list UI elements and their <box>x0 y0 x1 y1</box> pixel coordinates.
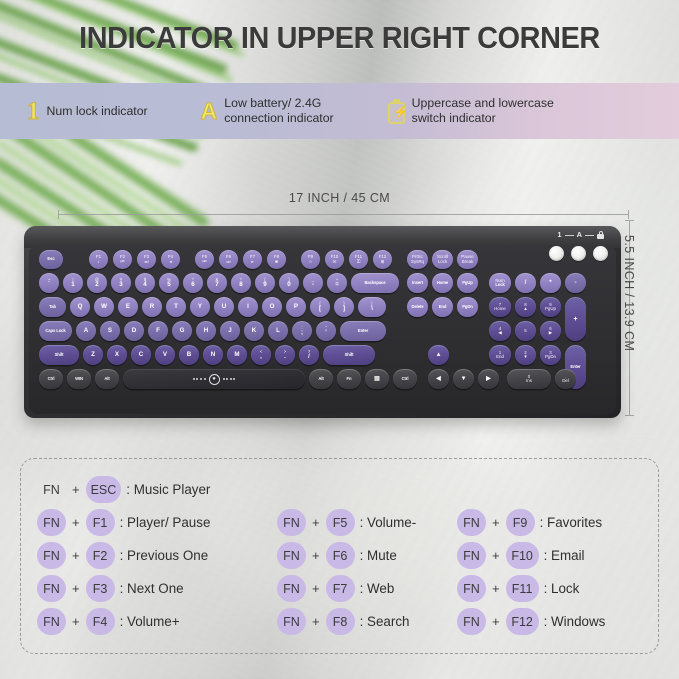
key-end[interactable]: End <box>432 297 453 317</box>
key-legend-main: ▲ <box>523 307 527 311</box>
key-legend-main: 7 <box>215 282 218 288</box>
key-a[interactable]: A <box>76 321 96 341</box>
key-shift[interactable]: Shift <box>323 345 375 365</box>
key-9[interactable]: (9 <box>255 273 275 293</box>
key-x[interactable]: X <box>107 345 127 365</box>
key-end[interactable]: 1End <box>489 345 511 365</box>
key-legend-main: O <box>270 304 275 310</box>
key-legend-main: ◀ <box>436 376 441 382</box>
key-legend-top: Num <box>495 279 504 283</box>
key-legend-main: PgDn <box>545 355 556 359</box>
key-[interactable]: / <box>515 273 536 293</box>
fn-shortcut-row: FN+F5: Volume- <box>277 506 416 539</box>
key-[interactable]: F2⏮ <box>113 250 132 269</box>
key-legend-main: ⏮ <box>121 260 125 264</box>
key-7[interactable]: &7 <box>207 273 227 293</box>
key-[interactable]: ▼ <box>453 369 474 389</box>
key-[interactable]: += <box>327 273 347 293</box>
key-legend-main: N <box>211 352 215 358</box>
key-4[interactable]: $4 <box>135 273 155 293</box>
key-y[interactable]: Y <box>190 297 210 317</box>
key-k[interactable]: K <box>244 321 264 341</box>
fn-shortcut-row: FN+F3: Next One <box>37 572 210 605</box>
keyboard-key-deck: EscF1♪F2⏮F3⏭F4◂F5⏮F6⏭F7▸F8■F9☆F10✉F11⚿F1… <box>29 246 616 414</box>
led-divider <box>585 235 594 236</box>
key-legend-main: B <box>187 352 191 358</box>
key-6[interactable]: ^6 <box>183 273 203 293</box>
key-legend-main: H <box>204 328 208 334</box>
fn-key-pill: FN <box>277 608 306 635</box>
plus-symbol: + <box>311 515 321 530</box>
key-break[interactable]: PauseBreak <box>457 250 478 269</box>
key-legend-main: ◂ <box>169 260 171 264</box>
key-e[interactable]: E <box>118 297 138 317</box>
key-[interactable]: F5⏮ <box>195 250 214 269</box>
key-ins[interactable]: 0Ins <box>507 369 551 389</box>
key-legend-main: R <box>150 304 154 310</box>
key-legend-main: 9 <box>263 282 266 288</box>
led-light <box>593 246 608 261</box>
led-caps-lock-label: A <box>577 231 582 239</box>
key-legend-main: / <box>525 280 527 286</box>
key-legend-main: Enter <box>570 365 580 369</box>
width-dimension-line <box>58 214 629 215</box>
fn-shortcut-row: FN+F4: Volume+ <box>37 605 210 638</box>
key-legend-main: PgUp <box>462 281 473 285</box>
key-[interactable]: F3⏭ <box>137 250 156 269</box>
key-legend-main: ♪ <box>97 260 99 264</box>
plus-symbol: + <box>491 614 501 629</box>
plus-symbol: + <box>311 614 321 629</box>
key-insert[interactable]: Insert <box>407 273 428 293</box>
letter-a-icon: A <box>201 100 218 123</box>
key-i[interactable]: I <box>238 297 258 317</box>
fn-key-pill: FN <box>37 608 66 635</box>
key-legend-main: * <box>549 280 551 286</box>
key-legend-main: T <box>174 304 178 310</box>
key-[interactable]: ▶ <box>478 369 499 389</box>
legend-label: Num lock indicator <box>47 104 148 119</box>
key-legend-main: ☆ <box>309 260 313 264</box>
key-[interactable]: ▤ <box>365 369 389 389</box>
battery-bolt-icon: ⚡ <box>388 99 405 124</box>
key-j[interactable]: J <box>220 321 240 341</box>
key-legend-main: Home <box>494 307 506 311</box>
key-legend-main: ' <box>325 330 326 336</box>
key-legend-top: ? <box>308 350 310 354</box>
key-legend-main: , <box>260 354 262 360</box>
fn-combo-key-pill: F4 <box>86 608 115 635</box>
key-legend-main: K <box>252 328 256 334</box>
key-l[interactable]: L <box>268 321 288 341</box>
key-legend-main: P <box>294 304 298 310</box>
key-legend-main: Lock <box>495 283 504 287</box>
key-legend-top: _ <box>312 278 314 282</box>
fn-combo-key-pill: F3 <box>86 575 115 602</box>
key-legend-main: C <box>139 352 143 358</box>
key-legend-main: / <box>308 354 310 360</box>
padlock-icon <box>597 231 604 239</box>
padlock-body <box>597 234 604 239</box>
lightning-bolt-glyph: ⚡ <box>393 106 408 118</box>
key-w[interactable]: W <box>94 297 114 317</box>
key-shift[interactable]: Shift <box>39 345 79 365</box>
key-legend-top: < <box>260 350 263 354</box>
key-win[interactable]: WIN <box>67 369 91 389</box>
fn-shortcut-row: FN+F7: Web <box>277 572 416 605</box>
key-legend-top: 5 <box>524 329 526 333</box>
key-legend-main: ` <box>48 282 50 288</box>
key-legend-main: ; <box>301 330 303 336</box>
key-legend-main: ⚿ <box>357 260 360 264</box>
key-[interactable]: _- <box>303 273 323 293</box>
fn-shortcut-description: : Player/ Pause <box>120 515 211 530</box>
fn-shortcut-row: FN+F2: Previous One <box>37 539 210 572</box>
key-[interactable]: F10✉ <box>325 250 344 269</box>
key-[interactable]: - <box>565 273 586 293</box>
key-p[interactable]: P <box>286 297 306 317</box>
key-legend-top: ) <box>288 278 289 282</box>
key-legend-main: + <box>573 316 577 323</box>
key-[interactable]: ▲ <box>428 345 449 365</box>
key-legend-main: J <box>228 328 231 334</box>
key-b[interactable]: B <box>179 345 199 365</box>
fn-shortcut-row: FN+F8: Search <box>277 605 416 638</box>
spacebar-dots-left <box>193 378 206 380</box>
key-esc[interactable]: Esc <box>39 250 63 269</box>
fn-shortcut-description: : Volume- <box>360 515 417 530</box>
keyboard-top-bezel: 1 A <box>24 226 621 248</box>
key-legend-main: 0 <box>287 282 290 288</box>
key-legend-main: ▶ <box>486 376 491 382</box>
key-legend-main: ⏭ <box>145 260 149 264</box>
legend-item-low-battery: A Low battery/ 2.4G connection indicator <box>201 96 334 126</box>
key-legend-main: E <box>126 304 130 310</box>
key-enter[interactable]: Enter <box>340 321 386 341</box>
key-[interactable]: F7▸ <box>243 250 262 269</box>
key-z[interactable]: Z <box>83 345 103 365</box>
key-5[interactable]: 5 <box>515 321 536 341</box>
key-alt[interactable]: Alt <box>309 369 333 389</box>
fn-shortcut-description: : Search <box>360 614 410 629</box>
fn-key-pill: FN <box>37 575 66 602</box>
key-r[interactable]: R <box>142 297 162 317</box>
key-legend-main: Del <box>562 379 569 383</box>
key-legend-main: SysRq <box>411 260 424 264</box>
key-legend-top: > <box>284 350 287 354</box>
key-[interactable]: <, <box>251 345 271 365</box>
key-pgdn[interactable]: 3PgDn <box>540 345 561 365</box>
fn-shortcut-description: : Email <box>544 548 585 563</box>
key-legend-top: { <box>319 302 320 306</box>
key-q[interactable]: Q <box>70 297 90 317</box>
key-sysrq[interactable]: PrtScSysRq <box>407 250 428 269</box>
key-legend-main: ✉ <box>333 260 337 264</box>
key-alt[interactable]: Alt <box>95 369 119 389</box>
plus-symbol: + <box>71 614 81 629</box>
key-legend-main: ▶ <box>549 331 552 335</box>
key-pgdn[interactable]: PgDn <box>457 297 478 317</box>
key-legend-main: Shift <box>345 353 354 357</box>
key-legend-main: 4 <box>143 282 146 288</box>
fn-shortcut-row: FN+F11: Lock <box>457 572 605 605</box>
key-5[interactable]: %5 <box>159 273 179 293</box>
key-legend-main: ■ <box>275 260 278 264</box>
spacebar-key[interactable]: ● <box>123 369 305 389</box>
fn-shortcut-row: FN+F9: Favorites <box>457 506 605 539</box>
fn-shortcut-column-3: FN+F9: FavoritesFN+F10: EmailFN+F11: Loc… <box>457 506 605 638</box>
plus-symbol: + <box>491 548 501 563</box>
key-c[interactable]: C <box>131 345 151 365</box>
key-[interactable]: ?/ <box>299 345 319 365</box>
key-legend-main: PgUp <box>545 307 556 311</box>
key-legend-main: = <box>335 282 339 288</box>
key-del[interactable]: .Del <box>555 369 576 389</box>
key-legend-main: Caps Lock <box>45 329 65 333</box>
key-d[interactable]: D <box>124 321 144 341</box>
plus-symbol: + <box>71 515 81 530</box>
legend-label: Uppercase and lowercase switch indicator <box>412 96 554 126</box>
fn-key-pill: FN <box>457 608 486 635</box>
fn-key-pill: FN <box>277 542 306 569</box>
key-fn[interactable]: Fn <box>337 369 361 389</box>
num-lock-digit-one-icon: 1 <box>27 99 40 124</box>
key-legend-main: 3 <box>119 282 122 288</box>
key-legend-main: 2 <box>95 282 98 288</box>
legend-item-num-lock: 1 Num lock indicator <box>27 99 148 124</box>
key-legend-top: } <box>343 302 344 306</box>
key-[interactable]: F12⊞ <box>373 250 392 269</box>
key-legend-main: Enter <box>358 329 368 333</box>
key-[interactable]: F4◂ <box>161 250 180 269</box>
key-legend-main: Y <box>198 304 202 310</box>
led-divider <box>565 235 574 236</box>
key-t[interactable]: T <box>166 297 186 317</box>
key-legend-main: 5 <box>167 282 170 288</box>
key-legend-main: Home <box>437 281 448 285</box>
fn-combo-key-pill: F6 <box>326 542 355 569</box>
key-lock[interactable]: NumLock <box>489 273 511 293</box>
key-[interactable]: F6⏭ <box>219 250 238 269</box>
key-[interactable]: + <box>565 297 586 341</box>
key-legend-main: Fn <box>347 377 352 381</box>
key-legend-main: 6 <box>191 282 194 288</box>
key-m[interactable]: M <box>227 345 247 365</box>
key-8[interactable]: *8 <box>231 273 251 293</box>
fn-key-pill: FN <box>37 476 66 503</box>
led-light <box>571 246 586 261</box>
key-legend-top: @ <box>95 278 99 282</box>
key-g[interactable]: G <box>172 321 192 341</box>
fn-combo-key-pill: F11 <box>506 575 539 602</box>
fn-combo-key-pill: F1 <box>86 509 115 536</box>
key-legend-main: . <box>284 354 286 360</box>
fn-key-pill: FN <box>457 542 486 569</box>
key-[interactable]: 6▶ <box>540 321 561 341</box>
height-dimension-label: 5.5 INCH / 13.9 CM <box>622 235 636 405</box>
key-[interactable]: * <box>540 273 561 293</box>
fn-combo-key-pill: ESC <box>86 476 122 503</box>
key-legend-main: ▼ <box>523 355 527 359</box>
key-legend-top: " <box>325 326 327 330</box>
key-[interactable]: 4◀ <box>489 321 511 341</box>
key-delete[interactable]: Delete <box>407 297 428 317</box>
key-legend-main: Q <box>78 304 83 310</box>
key-s[interactable]: S <box>100 321 120 341</box>
key-legend-main: Ctrl <box>48 377 55 381</box>
fn-combo-key-pill: F12 <box>506 608 539 635</box>
fn-key-pill: FN <box>457 575 486 602</box>
indicator-legend-bar: 1 Num lock indicator A Low battery/ 2.4G… <box>0 83 679 139</box>
key-f[interactable]: F <box>148 321 168 341</box>
key-v[interactable]: V <box>155 345 175 365</box>
fn-combo-key-pill: F10 <box>506 542 539 569</box>
led-indicator-labels: 1 A <box>557 231 604 239</box>
fn-key-pill: FN <box>37 509 66 536</box>
fn-shortcuts-panel: FN+ESC: Music PlayerFN+F1: Player/ Pause… <box>20 458 659 654</box>
fn-shortcut-description: : Favorites <box>540 515 603 530</box>
key-h[interactable]: H <box>196 321 216 341</box>
key-[interactable]: :; <box>292 321 312 341</box>
fn-shortcut-description: : Web <box>360 581 395 596</box>
key-legend-main: 1 <box>71 282 74 288</box>
width-dimension-label: 17 INCH / 45 CM <box>0 191 679 205</box>
key-legend-main: I <box>247 304 249 310</box>
fn-shortcut-description: : Next One <box>120 581 184 596</box>
key-ctrl[interactable]: Ctrl <box>39 369 63 389</box>
key-legend-main: ▤ <box>374 376 380 382</box>
key-caps-lock[interactable]: Caps Lock <box>39 321 72 341</box>
key-legend-main: ⊞ <box>381 260 385 264</box>
key-backspace[interactable]: Backspace <box>351 273 399 293</box>
key-[interactable]: ~` <box>39 273 59 293</box>
led-indicator-lights <box>549 246 608 261</box>
key-legend-main: [ <box>319 306 321 312</box>
fn-combo-key-pill: F9 <box>506 509 535 536</box>
key-legend-top: ( <box>264 278 265 282</box>
key-[interactable]: F8■ <box>267 250 286 269</box>
key-pgup[interactable]: PgUp <box>457 273 478 293</box>
key-3[interactable]: #3 <box>111 273 131 293</box>
key-legend-main: Ctrl <box>402 377 409 381</box>
fn-combo-key-pill: F5 <box>326 509 355 536</box>
infographic-stage: INDICATOR IN UPPER RIGHT CORNER 1 Num lo… <box>0 0 679 679</box>
key-legend-main: Z <box>91 352 95 358</box>
key-lock[interactable]: ScrollLock <box>432 250 453 269</box>
key-legend-main: \ <box>371 306 373 312</box>
plus-symbol: + <box>71 581 81 596</box>
key-legend-main: Lock <box>438 260 447 264</box>
fn-shortcut-description: : Music Player <box>126 482 210 497</box>
led-num-lock-label: 1 <box>557 231 561 239</box>
key-legend-main: 8 <box>239 282 242 288</box>
key-[interactable]: |\ <box>358 297 386 317</box>
key-legend-top: & <box>216 278 219 282</box>
key-home[interactable]: Home <box>432 273 453 293</box>
brand-logo-icon: ● <box>209 374 220 385</box>
key-[interactable]: F11⚿ <box>349 250 368 269</box>
key-legend-main: ] <box>343 306 345 312</box>
legend-label: Low battery/ 2.4G connection indicator <box>224 96 333 126</box>
key-legend-main: - <box>312 282 314 288</box>
key-legend-main: W <box>101 304 107 310</box>
key-u[interactable]: U <box>214 297 234 317</box>
key-legend-top: + <box>336 278 339 282</box>
plus-symbol: + <box>71 482 81 497</box>
key-legend-main: Delete <box>412 305 424 309</box>
key-[interactable]: {[ <box>310 297 330 317</box>
key-[interactable]: }] <box>334 297 354 317</box>
key-legend-top: | <box>371 302 372 306</box>
fn-shortcut-description: : Volume+ <box>120 614 180 629</box>
key-legend-main: Alt <box>318 377 323 381</box>
key-legend-main: Break <box>462 260 473 264</box>
key-[interactable]: "' <box>316 321 336 341</box>
key-legend-main: V <box>163 352 167 358</box>
key-n[interactable]: N <box>203 345 223 365</box>
key-legend-main: - <box>574 280 576 286</box>
key-2[interactable]: @2 <box>87 273 107 293</box>
key-[interactable]: F1♪ <box>89 250 108 269</box>
key-0[interactable]: )0 <box>279 273 299 293</box>
key-legend-main: Ins <box>526 379 532 383</box>
fn-shortcut-description: : Lock <box>544 581 580 596</box>
key-legend-main: ▼ <box>460 376 466 382</box>
key-ctrl[interactable]: Ctrl <box>393 369 417 389</box>
key-legend-main: ▲ <box>435 352 441 358</box>
spacebar-dots-right <box>223 378 236 380</box>
fn-shortcut-row: FN+F12: Windows <box>457 605 605 638</box>
fn-shortcut-row: FN+F1: Player/ Pause <box>37 506 210 539</box>
key-pgup[interactable]: 9PgUp <box>540 297 561 317</box>
fn-shortcut-column-2: FN+F5: Volume-FN+F6: MuteFN+F7: WebFN+F8… <box>277 506 416 638</box>
key-home[interactable]: 7Home <box>489 297 511 317</box>
key-legend-main: ▸ <box>251 260 253 264</box>
key-[interactable]: 8▲ <box>515 297 536 317</box>
key-legend-top: # <box>120 278 122 282</box>
key-legend-main: X <box>115 352 119 358</box>
key-legend-main: D <box>132 328 136 334</box>
key-legend-main: L <box>276 328 280 334</box>
key-legend-main: Shift <box>55 353 64 357</box>
fn-combo-key-pill: F8 <box>326 608 355 635</box>
plus-symbol: + <box>491 515 501 530</box>
key-legend-main: WIN <box>75 377 83 381</box>
key-tab[interactable]: Tab <box>39 297 66 317</box>
key-[interactable]: F9☆ <box>301 250 320 269</box>
plus-symbol: + <box>311 548 321 563</box>
key-[interactable]: >. <box>275 345 295 365</box>
key-1[interactable]: !1 <box>63 273 83 293</box>
led-light <box>549 246 564 261</box>
key-o[interactable]: O <box>262 297 282 317</box>
key-legend-main: A <box>84 328 88 334</box>
key-legend-top: $ <box>144 278 146 282</box>
key-[interactable]: 2▼ <box>515 345 536 365</box>
fn-combo-key-pill: F2 <box>86 542 115 569</box>
fn-key-pill: FN <box>37 542 66 569</box>
key-legend-main: Esc <box>47 257 54 261</box>
key-legend-top: ! <box>72 278 73 282</box>
key-legend-main: PgDn <box>462 305 473 309</box>
fn-shortcut-description: : Mute <box>360 548 397 563</box>
fn-key-pill: FN <box>457 509 486 536</box>
key-[interactable]: ◀ <box>428 369 449 389</box>
keyboard-product-image: 1 A EscF1♪F2⏮F3⏭F4◂F5⏮F6⏭F7▸F8■F9☆F10✉F1… <box>24 226 621 418</box>
key-legend-main: S <box>108 328 112 334</box>
key-legend-main: G <box>180 328 185 334</box>
plus-symbol: + <box>311 581 321 596</box>
